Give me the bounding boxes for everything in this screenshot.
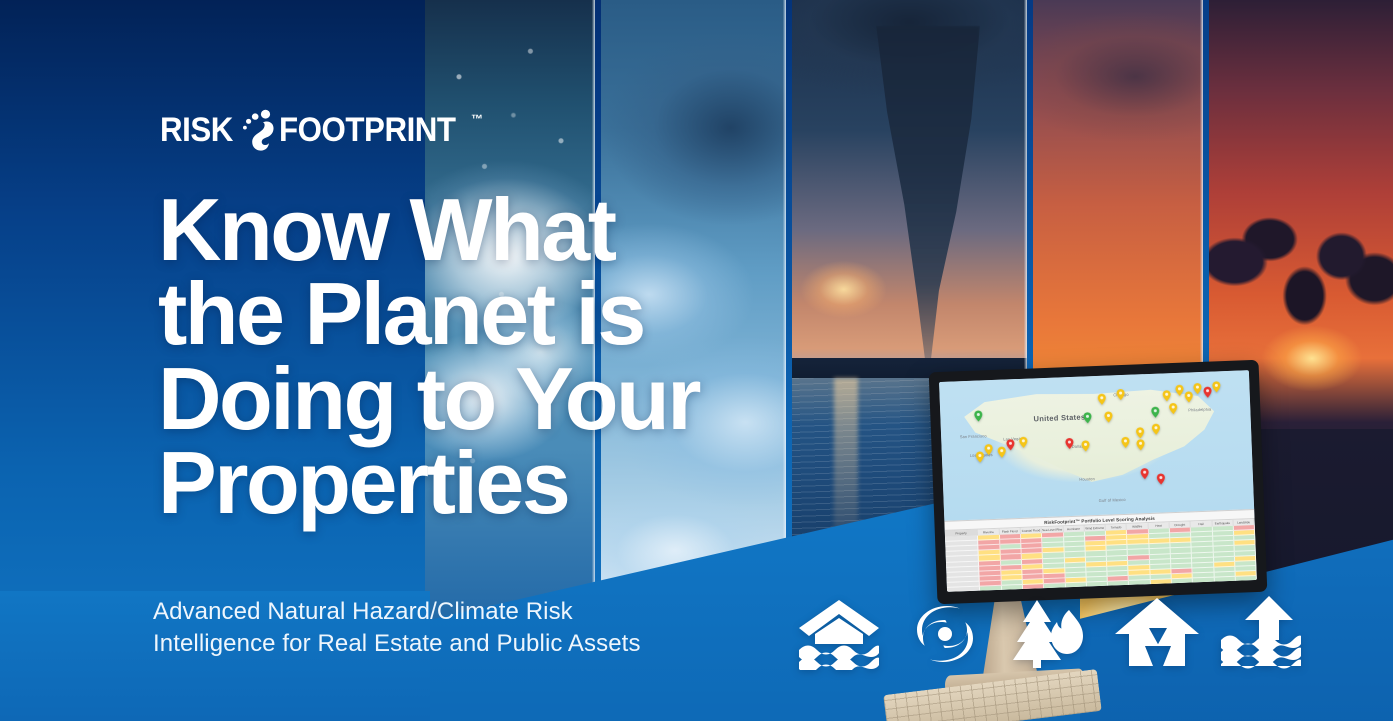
hazard-icon-row [795,590,1315,670]
map-pin[interactable] [1212,381,1220,392]
page-title: Know What the Planet is Doing to Your Pr… [158,188,918,526]
logo-text-footprint: FOOTPRINT [279,111,456,150]
table-cell [1108,581,1129,587]
map-pin[interactable] [1141,468,1149,479]
monitor-bezel: United States San Francisco Los Angeles … [929,360,1268,604]
subtitle-line-1: Advanced Natural Hazard/Climate Risk [153,596,773,628]
table-cell [1215,582,1236,588]
map-pin[interactable] [1137,439,1145,450]
map-pin[interactable] [1184,392,1192,403]
map-pin[interactable] [1081,440,1089,451]
map-pin[interactable] [1175,385,1183,396]
wildfire-icon[interactable] [1007,594,1095,670]
banner-stage: RISK FOOTPRINT ™ Know What the Planet is… [0,0,1393,721]
risk-map[interactable]: United States San Francisco Los Angeles … [939,370,1254,520]
headline-line-2: the Planet is [158,272,918,356]
map-pin[interactable] [1136,427,1144,438]
page-subtitle: Advanced Natural Hazard/Climate Risk Int… [153,596,773,659]
logo-text-risk: RISK [160,111,233,150]
map-pin[interactable] [985,444,993,455]
table-cell [1193,578,1214,584]
map-pin[interactable] [1065,438,1073,449]
map-pin[interactable] [1157,473,1165,484]
map-city-label: Houston [1079,476,1095,482]
map-pin[interactable] [974,411,982,422]
map-pin[interactable] [997,446,1005,457]
map-pin[interactable] [1193,383,1201,394]
table-body [945,525,1257,592]
map-city-label: San Francisco [960,433,987,439]
headline-line-3: Doing to Your [158,357,918,441]
map-pin[interactable] [1163,390,1171,401]
map-pin[interactable] [1019,437,1027,448]
headline-line-1: Know What [158,188,918,272]
table-cell [1236,582,1257,588]
table-cell [1065,583,1086,589]
map-pin[interactable] [1151,407,1159,418]
monitor-screen[interactable]: United States San Francisco Los Angeles … [939,370,1257,592]
hurricane-icon[interactable] [901,594,989,670]
table-cell [1214,577,1235,583]
sea-level-rise-icon[interactable] [1219,594,1307,670]
earthquake-icon[interactable] [1113,594,1201,670]
table-cell [1129,581,1150,587]
map-pin[interactable] [1203,387,1211,398]
map-pin[interactable] [1105,411,1113,422]
map-pin[interactable] [1116,389,1124,400]
brand-logo[interactable]: RISK FOOTPRINT ™ [160,108,483,152]
headline-line-4: Properties [158,441,918,525]
map-pin[interactable] [1121,437,1129,448]
map-pin[interactable] [1083,412,1091,423]
footprint-icon [243,109,277,151]
map-pin-layer [939,370,1249,382]
scoring-table[interactable]: RiskFootprint™ Portfolio Level Scoring A… [944,509,1257,592]
desktop-monitor: United States San Francisco Los Angeles … [933,366,1263,598]
map-pin[interactable] [1006,439,1014,450]
flood-icon[interactable] [795,594,883,670]
table-cell [1087,582,1108,588]
subtitle-line-2: Intelligence for Real Estate and Public … [153,628,773,660]
table-cell [1044,584,1065,590]
table-cell [1151,580,1172,586]
table-cell [1172,579,1193,585]
map-pin[interactable] [1152,423,1160,434]
map-pin[interactable] [976,451,984,462]
map-pin[interactable] [1098,394,1106,405]
map-city-label: Gulf of Mexico [1099,497,1126,503]
map-city-label: Philadelphia [1188,406,1211,412]
table-cell [1236,576,1257,582]
table-cell [1193,583,1214,589]
trademark-symbol: ™ [471,112,483,126]
map-pin[interactable] [1169,403,1177,414]
